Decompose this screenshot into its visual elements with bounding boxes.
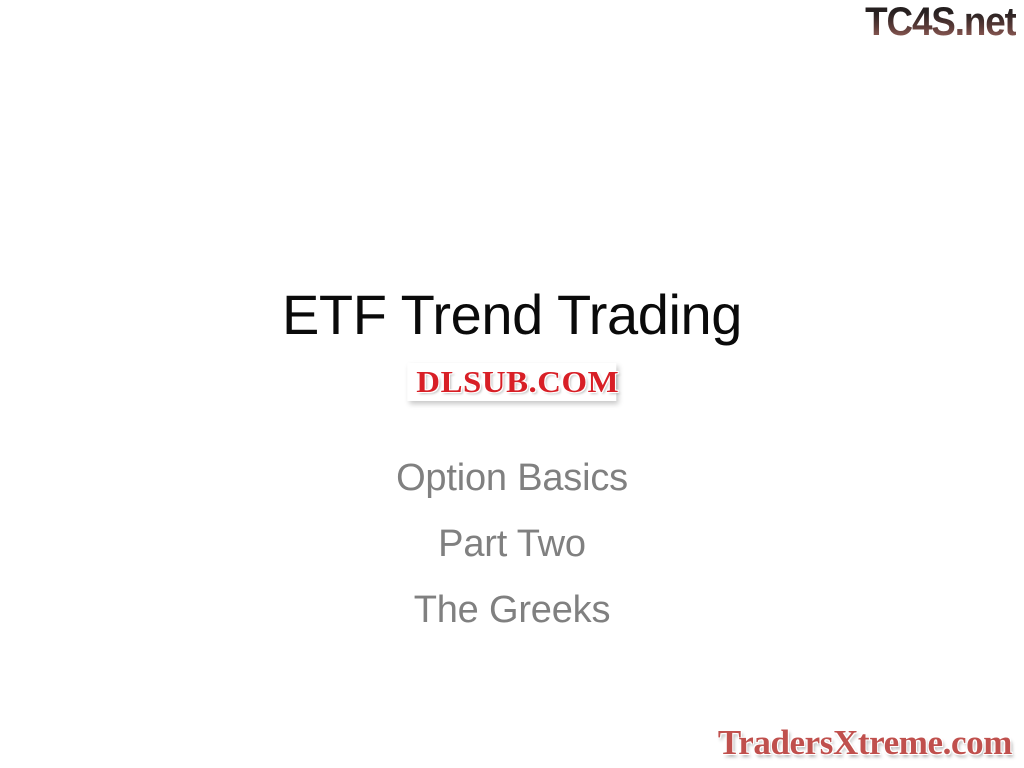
- tc4s-logo-text: TC4S.net: [865, 2, 1016, 42]
- tradersxtreme-logo: TradersXtreme.com: [718, 725, 1012, 760]
- tc4s-logo: TC4S.net: [852, 2, 1016, 42]
- tradersxtreme-logo-text: TradersXtreme.com: [718, 725, 1012, 760]
- presentation-slide: TC4S.net ETF Trend Trading DLSUB.COM Opt…: [0, 0, 1024, 768]
- subtitle-block: Option Basics Part Two The Greeks: [0, 445, 1024, 643]
- subtitle-line-3: The Greeks: [0, 577, 1024, 643]
- title-block: ETF Trend Trading: [0, 283, 1024, 347]
- dlsub-watermark: DLSUB.COM: [407, 363, 616, 401]
- subtitle-line-1: Option Basics: [0, 445, 1024, 511]
- dlsub-watermark-text: DLSUB.COM: [416, 366, 619, 397]
- page-title: ETF Trend Trading: [0, 283, 1024, 347]
- subtitle-line-2: Part Two: [0, 511, 1024, 577]
